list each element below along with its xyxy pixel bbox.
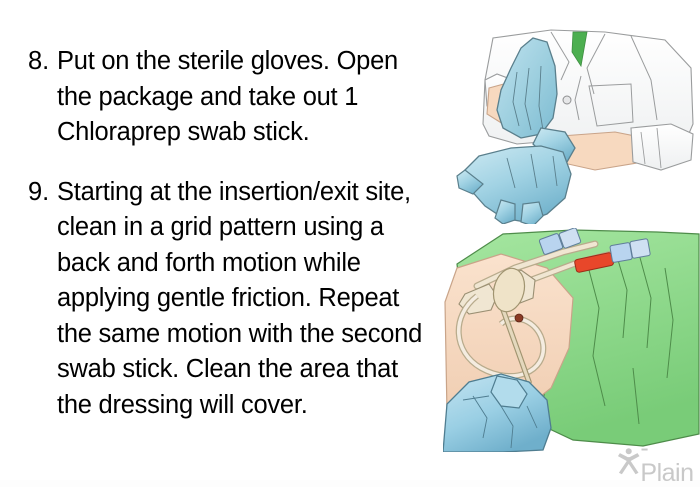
cleaning-catheter-exit-site-illustration bbox=[443, 228, 700, 452]
slide-page: 8. Put on the sterile gloves. Open the p… bbox=[0, 0, 700, 480]
x-plain-figure-icon bbox=[616, 447, 641, 475]
step-text: Starting at the insertion/exit site, cle… bbox=[57, 175, 438, 424]
instruction-step-8: 8. Put on the sterile gloves. Open the p… bbox=[28, 44, 438, 151]
instruction-list: 8. Put on the sterile gloves. Open the p… bbox=[28, 44, 438, 447]
instruction-step-9: 9. Starting at the insertion/exit site, … bbox=[28, 175, 438, 424]
step-number: 8. bbox=[28, 44, 57, 80]
x-plain-logo-text: -Plain bbox=[640, 436, 700, 486]
x-plain-logo: -Plain bbox=[616, 444, 700, 478]
glove-finger-2 bbox=[521, 202, 543, 224]
step-number: 9. bbox=[28, 175, 57, 211]
step-text: Put on the sterile gloves. Open the pack… bbox=[57, 44, 438, 151]
putting-on-sterile-gloves-illustration bbox=[455, 28, 700, 224]
coat-sleeve-right bbox=[631, 124, 693, 170]
coat-button bbox=[563, 96, 571, 104]
catheter-exit-site bbox=[515, 314, 523, 322]
